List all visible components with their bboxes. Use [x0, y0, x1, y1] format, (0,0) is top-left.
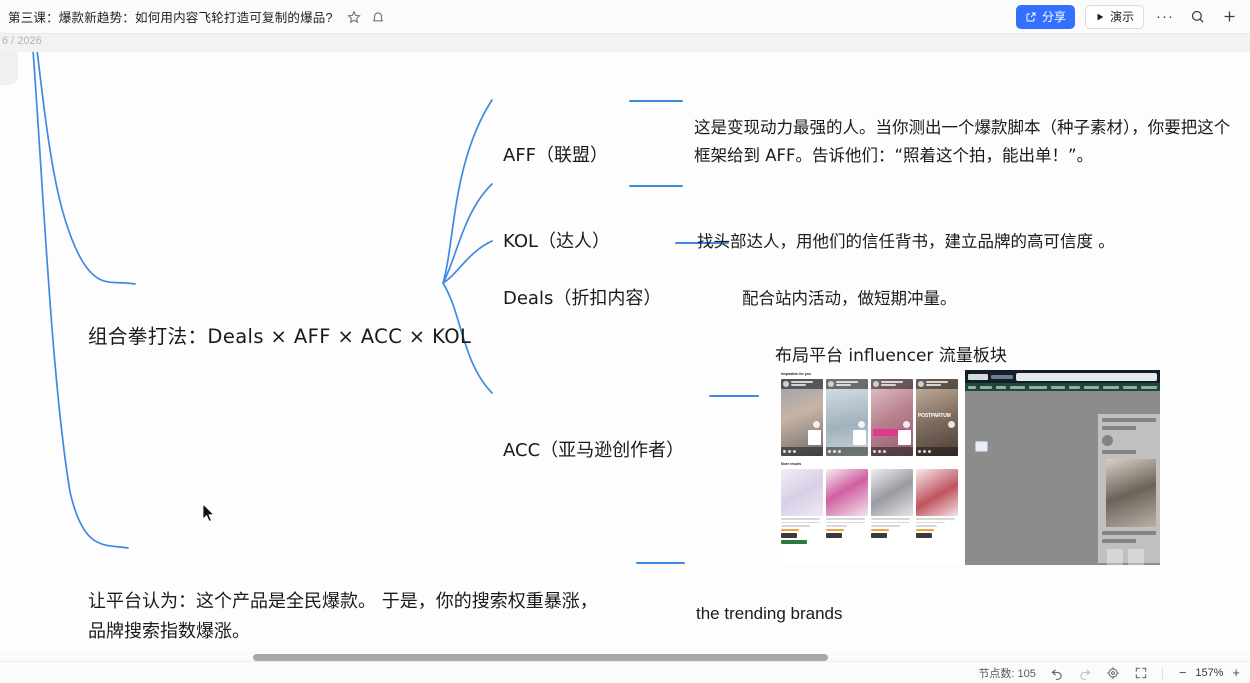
zoom-control: − 157% + [1179, 667, 1240, 679]
product-image [916, 469, 958, 516]
topbar-actions: 分享 演示 ··· [1016, 5, 1250, 29]
bottom-status-bar: 节点数: 105 − 157% + [0, 661, 1250, 683]
site-logo [968, 374, 988, 380]
reel-badge-icon [858, 421, 865, 428]
title-icon-group [347, 10, 385, 24]
breadcrumb-strip: 6 / 2026 [0, 34, 1250, 52]
product-image [826, 469, 868, 516]
product-price [781, 533, 797, 538]
node-bottom-line-2: 品牌搜索指数爆涨。 [88, 621, 250, 642]
product-grid [781, 469, 958, 562]
divider [1162, 667, 1163, 679]
reel-grid: POSTPARTUM [781, 379, 958, 456]
more-options-label: ··· [1156, 12, 1174, 22]
reel-actions [781, 447, 823, 456]
reel-product-card [898, 430, 911, 445]
panel-subtitle [1102, 426, 1136, 430]
avatar [828, 381, 834, 387]
rating-stars [781, 529, 799, 531]
dimmed-overlay [965, 391, 1160, 565]
rating-stars [916, 529, 934, 531]
avatar [783, 381, 789, 387]
panel-product-item[interactable] [1107, 549, 1123, 565]
node-acc[interactable]: ACC（亚马逊创作者） [503, 436, 684, 462]
reel-item[interactable] [826, 379, 868, 456]
product-card[interactable] [781, 469, 823, 562]
star-icon[interactable] [347, 10, 361, 24]
site-header [965, 370, 1160, 383]
node-deals-description[interactable]: 配合站内活动，做短期冲量。 [742, 285, 957, 309]
product-card[interactable] [871, 469, 913, 562]
node-bottom-statement[interactable]: 让平台认为：这个产品是全民爆款。 于是，你的搜索权重暴涨， 品牌搜索指数爆涨。 [88, 587, 628, 647]
product-image [871, 469, 913, 516]
panel-caption [1102, 531, 1156, 535]
crosshair-icon[interactable] [1106, 666, 1120, 680]
more-options-button[interactable]: ··· [1154, 6, 1176, 28]
zoom-level-value[interactable]: 157% [1193, 667, 1225, 679]
reel-product-card [808, 430, 821, 445]
thumb-header-more-results: More results [781, 462, 801, 466]
share-button[interactable]: 分享 [1016, 5, 1075, 29]
mindmap-app-window: 第三课：爆款新趋势：如何用内容飞轮打造可复制的爆品? [0, 0, 1250, 683]
reel-item[interactable] [781, 379, 823, 456]
thumbnail-inspire-feed[interactable]: Inspiration for you [778, 370, 960, 565]
product-coupon-badge [781, 540, 807, 544]
floating-side-panel[interactable] [0, 47, 18, 85]
reel-badge-icon [948, 421, 955, 428]
node-trending-brands[interactable]: the trending brands [696, 604, 843, 624]
node-center[interactable]: 组合拳打法：Deals × AFF × ACC × KOL [88, 320, 471, 349]
avatar [1102, 435, 1113, 446]
reel-product-card [853, 430, 866, 445]
panel-caption-2 [1102, 539, 1136, 543]
panel-product-list [1107, 549, 1160, 565]
product-image [781, 469, 823, 516]
delivery-location [991, 375, 1013, 379]
floating-thumbnail-icon [975, 441, 988, 452]
share-external-icon [1025, 11, 1037, 23]
product-price [916, 533, 932, 538]
panel-product-item[interactable] [1128, 549, 1144, 565]
rating-stars [871, 529, 889, 531]
top-toolbar: 第三课：爆款新趋势：如何用内容飞轮打造可复制的爆品? [0, 0, 1250, 34]
present-button[interactable]: 演示 [1085, 5, 1144, 29]
reel-author [826, 379, 868, 389]
panel-author-name [1102, 450, 1136, 454]
node-deals[interactable]: Deals（折扣内容） [503, 284, 661, 310]
reel-actions [871, 447, 913, 456]
reel-actions [826, 447, 868, 456]
search-icon[interactable] [1186, 6, 1208, 28]
horizontal-scrollbar[interactable] [253, 654, 828, 661]
present-button-label: 演示 [1110, 8, 1134, 25]
thumbnail-amazon-dimmed-page[interactable] [965, 370, 1160, 565]
node-kol-description[interactable]: 找头部达人，用他们的信任背书，建立品牌的高可信度 。 [697, 228, 1115, 252]
product-price [871, 533, 887, 538]
panel-hero-image [1106, 459, 1156, 527]
node-bottom-line-1: 让平台认为：这个产品是全民爆款。 于是，你的搜索权重暴涨， [88, 591, 598, 612]
site-subnav [965, 383, 1160, 391]
avatar [918, 381, 924, 387]
side-detail-panel[interactable] [1098, 414, 1160, 563]
undo-arrow-icon[interactable] [1050, 666, 1064, 680]
rating-stars [826, 529, 844, 531]
site-search-input[interactable] [1016, 373, 1157, 381]
product-price [826, 533, 842, 538]
fit-screen-icon[interactable] [1134, 666, 1148, 680]
panel-title [1102, 418, 1156, 422]
play-triangle-icon [1095, 12, 1105, 22]
reel-actions [916, 447, 958, 456]
plus-icon[interactable] [1218, 6, 1240, 28]
mouse-cursor [203, 504, 215, 523]
bell-icon[interactable] [371, 10, 385, 24]
product-card[interactable] [826, 469, 868, 562]
reel-badge-icon [903, 421, 910, 428]
reel-author [871, 379, 913, 389]
reel-author [781, 379, 823, 389]
node-aff[interactable]: AFF（联盟） [503, 141, 608, 167]
share-button-label: 分享 [1042, 8, 1066, 25]
redo-arrow-icon[interactable] [1078, 666, 1092, 680]
reel-item[interactable]: POSTPARTUM [916, 379, 958, 456]
mindmap-canvas[interactable]: 组合拳打法：Deals × AFF × ACC × KOL AFF（联盟） KO… [0, 52, 1250, 652]
zoom-out-button[interactable]: − [1179, 667, 1187, 679]
node-aff-description[interactable]: 这是变现动力最强的人。当你测出一个爆款脚本（种子素材），你要把这个框架给到 AF… [694, 114, 1242, 170]
reel-item[interactable] [871, 379, 913, 456]
image-caption[interactable]: 布局平台 influencer 流量板块 [775, 341, 1007, 366]
thumb-header-inspiration: Inspiration for you [781, 372, 811, 376]
breadcrumb: 6 / 2026 [2, 35, 42, 47]
node-kol[interactable]: KOL（达人） [503, 227, 610, 253]
product-card[interactable] [916, 469, 958, 562]
avatar [873, 381, 879, 387]
node-count-label: 节点数: 105 [978, 665, 1035, 681]
zoom-in-button[interactable]: + [1232, 667, 1240, 679]
reel-badge-icon [813, 421, 820, 428]
reel-author [916, 379, 958, 389]
document-title: 第三课：爆款新趋势：如何用内容飞轮打造可复制的爆品? [8, 7, 333, 26]
reel-overlay-text: POSTPARTUM [918, 413, 951, 419]
